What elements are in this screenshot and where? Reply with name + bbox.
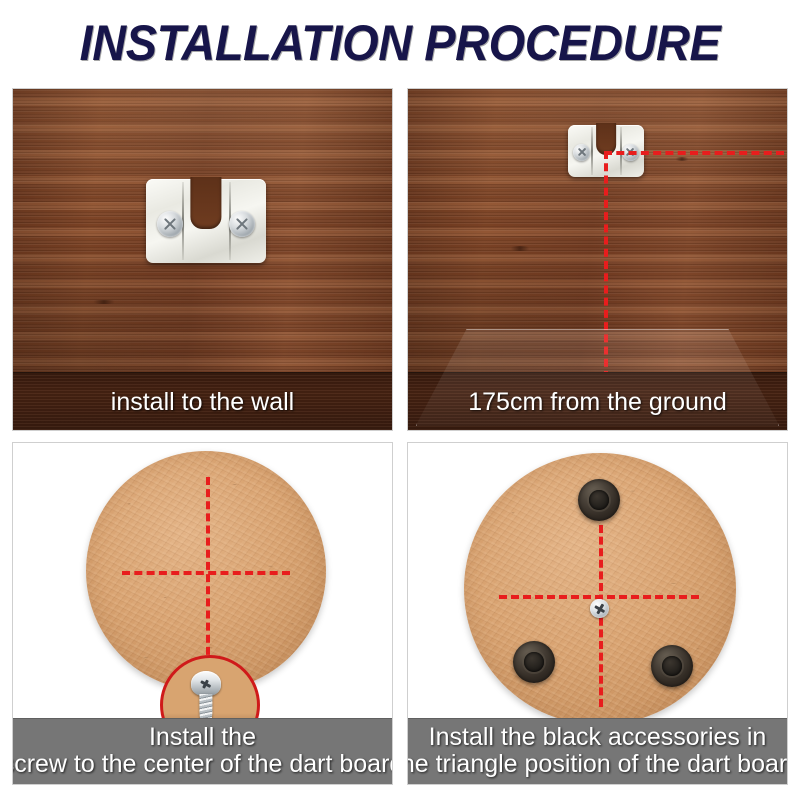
bracket-fold-line-left [591,127,593,175]
caption-line: install to the wall [111,389,294,416]
black-accessory-bumper-bottom-left [513,641,555,683]
phillips-cross-icon [201,680,212,689]
caption-line: Install the black accessories in [429,724,767,751]
black-accessory-bumper-top [578,479,620,521]
caption-line: Install the [149,724,256,751]
bumper-ring [524,652,543,671]
phillips-screw-icon [573,144,590,161]
caption-line: screw to the center of the dart board [12,751,393,778]
caption-line: 175cm from the ground [468,389,726,416]
wall-bracket [146,179,266,263]
wood-knot-icon [507,246,533,251]
panel-black-accessories: Install the black accessories in the tri… [407,442,788,785]
phillips-screw-icon [229,211,255,237]
center-screw [590,599,609,618]
panel-height-from-ground: 175cm from the ground [407,88,788,431]
panel-caption: Install the black accessories in the tri… [408,718,787,784]
bumper-ring [662,656,681,675]
horizontal-dashed-crosshair [122,571,290,575]
bracket-notch [190,177,221,229]
panel-caption: 175cm from the ground [408,374,787,430]
panel-caption: install to the wall [13,374,392,430]
phillips-screw-icon [157,211,183,237]
horizontal-dashed-guide [604,151,784,155]
bumper-ring [589,490,608,509]
wood-screw [191,671,221,725]
panel-grid: install to the wall 175cm from the groun… [12,88,788,785]
panel-caption: Install the screw to the center of the d… [13,718,392,784]
black-accessory-bumper-bottom-right [651,645,693,687]
installation-procedure-infographic: INSTALLATION PROCEDURE install to the wa… [0,0,800,800]
panel-install-to-wall: install to the wall [12,88,393,431]
caption-line: the triangle position of the dart board [407,751,788,778]
panel-center-screw: Install the screw to the center of the d… [12,442,393,785]
page-title: INSTALLATION PROCEDURE [24,8,776,78]
